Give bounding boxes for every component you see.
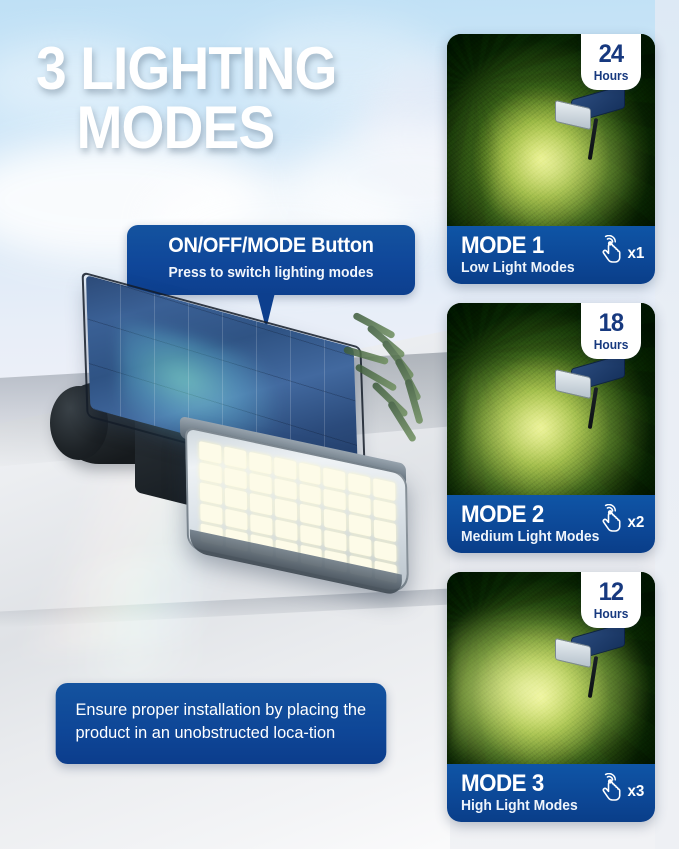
mode-title: MODE 2	[461, 501, 544, 529]
runtime-badge: 24 Hours	[581, 34, 641, 90]
tap-hand-icon	[596, 773, 624, 803]
mini-product-icon	[555, 630, 621, 690]
runtime-hours-label: Hours	[594, 70, 629, 83]
runtime-hours-label: Hours	[594, 339, 629, 352]
button-callout: ON/OFF/MODE Button Press to switch light…	[127, 225, 415, 295]
callout-title: ON/OFF/MODE Button	[134, 234, 408, 258]
tap-hand-icon	[596, 504, 624, 534]
installation-note: Ensure proper installation by placing th…	[56, 683, 387, 764]
runtime-hours-number: 12	[599, 580, 624, 605]
product-infographic: 3 LIGHTING MODES ON/OFF/MODE Button Pres…	[0, 0, 679, 849]
mode-subtitle: Medium Light Modes	[461, 529, 599, 545]
right-margin-background	[655, 0, 679, 849]
runtime-hours-number: 18	[599, 311, 624, 336]
mode-subtitle: High Light Modes	[461, 798, 578, 814]
mode-label-bar: MODE 3 High Light Modes x3	[447, 764, 655, 822]
press-count-group: x2	[596, 504, 645, 534]
mode-panel-list: 24 Hours MODE 1 Low Light Modes x1	[447, 34, 655, 824]
mode-title: MODE 1	[461, 232, 544, 260]
press-count-label: x3	[628, 783, 645, 803]
runtime-badge: 18 Hours	[581, 303, 641, 359]
press-count-label: x2	[628, 514, 645, 534]
mode-card[interactable]: 24 Hours MODE 1 Low Light Modes x1	[447, 34, 655, 284]
mini-product-icon	[555, 361, 621, 421]
runtime-hours-label: Hours	[594, 608, 629, 621]
runtime-hours-number: 24	[599, 42, 624, 67]
mode-card[interactable]: 18 Hours MODE 2 Medium Light Modes x2	[447, 303, 655, 553]
press-count-group: x1	[596, 235, 645, 265]
runtime-badge: 12 Hours	[581, 572, 641, 628]
mode-label-bar: MODE 1 Low Light Modes x1	[447, 226, 655, 284]
tap-hand-icon	[596, 235, 624, 265]
page-title: 3 LIGHTING MODES	[36, 40, 404, 158]
foliage-decoration	[345, 318, 445, 448]
headline-line-2: MODES	[76, 99, 404, 158]
mini-product-icon	[555, 92, 621, 152]
headline-line-1: 3 LIGHTING	[36, 35, 337, 102]
mode-title: MODE 3	[461, 770, 544, 798]
mode-card[interactable]: 12 Hours MODE 3 High Light Modes x3	[447, 572, 655, 822]
mode-label-bar: MODE 2 Medium Light Modes x2	[447, 495, 655, 553]
press-count-label: x1	[628, 245, 645, 265]
callout-subtitle: Press to switch lighting modes	[133, 265, 409, 281]
press-count-group: x3	[596, 773, 645, 803]
mode-subtitle: Low Light Modes	[461, 260, 575, 276]
